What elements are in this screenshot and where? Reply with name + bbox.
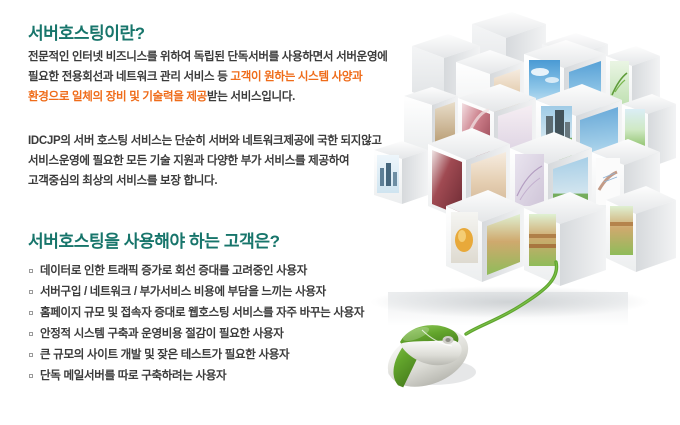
list-item-label: 데이터로 인한 트래픽 증가로 회선 증대를 고려중인 사용자 <box>40 265 307 277</box>
list-item-label: 안정적 시스템 구축과 운영비용 절감이 필요한 사용자 <box>40 328 284 340</box>
paragraph-1-line-3: 환경으로 일체의 장비 및 기술력을 제공받는 서비스입니다. <box>28 87 388 107</box>
square-bullet-icon <box>29 374 33 378</box>
section-one-paragraph-2: IDCJP의 서버 호스팅 서비스는 단순히 서버와 네트워크제공에 국한 되지… <box>28 131 382 191</box>
list-item: 안정적 시스템 구축과 운영비용 절감이 필요한 사용자 <box>28 324 364 345</box>
section-one-paragraph-1: 전문적인 인터넷 비즈니스를 위하여 독립된 단독서버를 사용하면서 서버운영에… <box>28 47 388 107</box>
square-bullet-icon <box>29 269 33 273</box>
cube-photo-fence-grass <box>524 192 606 286</box>
page-root: 서버호스팅이란? 전문적인 인터넷 비즈니스를 위하여 독립된 단독서버를 사용… <box>0 0 680 425</box>
list-item: 데이터로 인한 트래픽 증가로 회선 증대를 고려중인 사용자 <box>28 261 364 282</box>
paragraph-1-line-2: 필요한 전용회선과 네트워크 관리 서비스 등 고객이 원하는 시스템 사양과 <box>28 67 388 87</box>
list-item: 단독 메일서버를 따로 구축하려는 사용자 <box>28 366 364 387</box>
list-item-label: 단독 메일서버를 따로 구축하려는 사용자 <box>40 370 226 382</box>
paragraph-1-line-1: 전문적인 인터넷 비즈니스를 위하여 독립된 단독서버를 사용하면서 서버운영에 <box>28 47 388 67</box>
cube-photo-wood-texture <box>606 186 676 272</box>
square-bullet-icon <box>29 353 33 357</box>
square-bullet-icon <box>29 290 33 294</box>
paragraph-2-line-2: 서비스운영에 필요한 모든 기술 지원과 다양한 부가 서비스를 제공하여 <box>28 151 382 171</box>
paragraph-1-line-2-text: 필요한 전용회선과 네트워크 관리 서비스 등 <box>28 71 230 83</box>
list-item: 홈페이지 규모 및 접속자 증대로 웹호스팅 서비스를 자주 바꾸는 사용자 <box>28 303 364 324</box>
text-column: 서버호스팅이란? 전문적인 인터넷 비즈니스를 위하여 독립된 단독서버를 사용… <box>0 0 440 425</box>
square-bullet-icon <box>29 332 33 336</box>
cube-photo-egg <box>446 190 524 282</box>
list-item: 큰 규모의 사이트 개발 및 잦은 테스트가 필요한 사용자 <box>28 345 364 366</box>
section-one-heading: 서버호스팅이란? <box>28 19 145 44</box>
paragraph-1-line-3-highlight: 환경으로 일체의 장비 및 기술력을 제공 <box>28 91 207 103</box>
list-item-label: 큰 규모의 사이트 개발 및 잦은 테스트가 필요한 사용자 <box>40 349 289 361</box>
list-item-label: 서버구입 / 네트워크 / 부가서비스 비용에 부담을 느끼는 사용자 <box>40 286 326 298</box>
square-bullet-icon <box>29 311 33 315</box>
customer-type-list: 데이터로 인한 트래픽 증가로 회선 증대를 고려중인 사용자 서버구입 / 네… <box>28 261 364 387</box>
paragraph-1-line-2-highlight: 고객이 원하는 시스템 사양과 <box>230 71 362 83</box>
paragraph-2-line-1: IDCJP의 서버 호스팅 서비스는 단순히 서버와 네트워크제공에 국한 되지… <box>28 131 382 151</box>
paragraph-1-line-1-text: 전문적인 인터넷 비즈니스를 위하여 독립된 단독서버를 사용하면서 서버운영에 <box>28 51 388 63</box>
paragraph-1-line-3-text: 받는 서비스입니다. <box>207 91 295 103</box>
section-two-heading: 서버호스팅을 사용해야 하는 고객은? <box>28 227 280 252</box>
list-item: 서버구입 / 네트워크 / 부가서비스 비용에 부담을 느끼는 사용자 <box>28 282 364 303</box>
list-item-label: 홈페이지 규모 및 접속자 증대로 웹호스팅 서비스를 자주 바꾸는 사용자 <box>40 307 364 319</box>
paragraph-2-line-3: 고객중심의 최상의 서비스를 보장 합니다. <box>28 171 382 191</box>
